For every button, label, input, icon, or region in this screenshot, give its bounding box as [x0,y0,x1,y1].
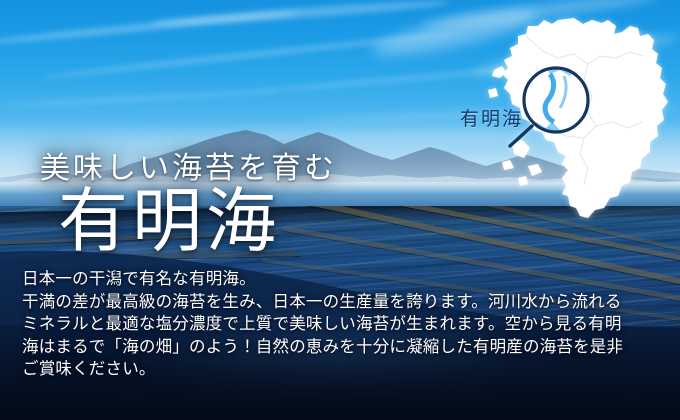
kicker-headline: 美味しい海苔を育む [40,143,337,187]
body-line: 海はまるで「海の畑」のよう！自然の恵みを十分に凝縮した有明産の海苔を是非 [22,336,672,359]
map-label-ariake-sea: 有明海 [460,104,523,131]
ariake-sea-banner: 有明海 美味しい海苔を育む 有明海 日本一の干潟で有名な有明海。 干満の差が最高… [0,0,680,420]
body-line: ご賞味ください。 [22,358,672,381]
body-line: 日本一の干潟で有名な有明海。 [22,268,672,291]
body-copy: 日本一の干潟で有名な有明海。 干満の差が最高級の海苔を生み、日本一の生産量を誇り… [22,268,672,381]
cloud-streak-icon [0,89,280,109]
body-line: ミネラルと最適な塩分濃度で上質で美味しい海苔が生まれます。空から見る有明 [22,313,672,336]
page-title: 有明海 [58,188,280,258]
body-line: 干満の差が最高級の海苔を生み、日本一の生産量を誇ります。河川水から流れる [22,291,672,314]
